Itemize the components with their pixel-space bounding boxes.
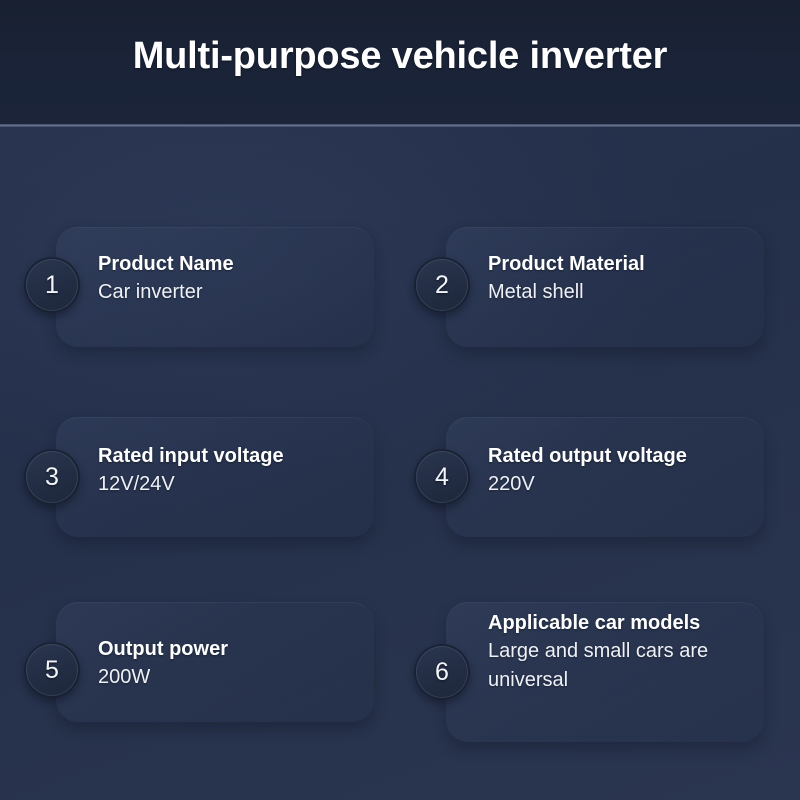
card-number-badge: 5 xyxy=(24,642,80,698)
card-number-badge: 2 xyxy=(414,257,470,313)
card-text-block: Rated output voltage 220V xyxy=(488,443,788,499)
card-text-block: Applicable car models Large and small ca… xyxy=(488,610,703,695)
card-number-badge: 3 xyxy=(24,449,80,505)
card-title: Rated input voltage xyxy=(98,443,398,470)
card-text-block: Product Name Car inverter xyxy=(98,251,398,307)
page-title: Multi-purpose vehicle inverter xyxy=(0,0,800,112)
card-text-block: Rated input voltage 12V/24V xyxy=(98,443,398,499)
card-number-badge: 1 xyxy=(24,257,80,313)
card-text-block: Product Material Metal shell xyxy=(488,251,788,307)
card-subtitle: Metal shell xyxy=(488,278,788,307)
spec-grid: 1 Product Name Car inverter 2 Product Ma… xyxy=(0,127,800,800)
card-subtitle: Car inverter xyxy=(98,278,398,307)
card-title: Applicable car models xyxy=(488,610,703,637)
card-title: Product Name xyxy=(98,251,398,278)
card-subtitle: Large and small cars are universal xyxy=(488,637,738,695)
card-title: Output power xyxy=(98,636,398,663)
card-title: Product Material xyxy=(488,251,788,278)
card-number-badge: 6 xyxy=(414,644,470,700)
card-number-badge: 4 xyxy=(414,449,470,505)
spec-grid-area: 1 Product Name Car inverter 2 Product Ma… xyxy=(0,127,800,800)
card-subtitle: 220V xyxy=(488,470,788,499)
card-text-block: Output power 200W xyxy=(98,636,398,692)
product-spec-infographic: Multi-purpose vehicle inverter 1 Product… xyxy=(0,0,800,800)
card-title: Rated output voltage xyxy=(488,443,788,470)
card-subtitle: 12V/24V xyxy=(98,470,398,499)
card-subtitle: 200W xyxy=(98,663,398,692)
header-banner: Multi-purpose vehicle inverter xyxy=(0,0,800,124)
